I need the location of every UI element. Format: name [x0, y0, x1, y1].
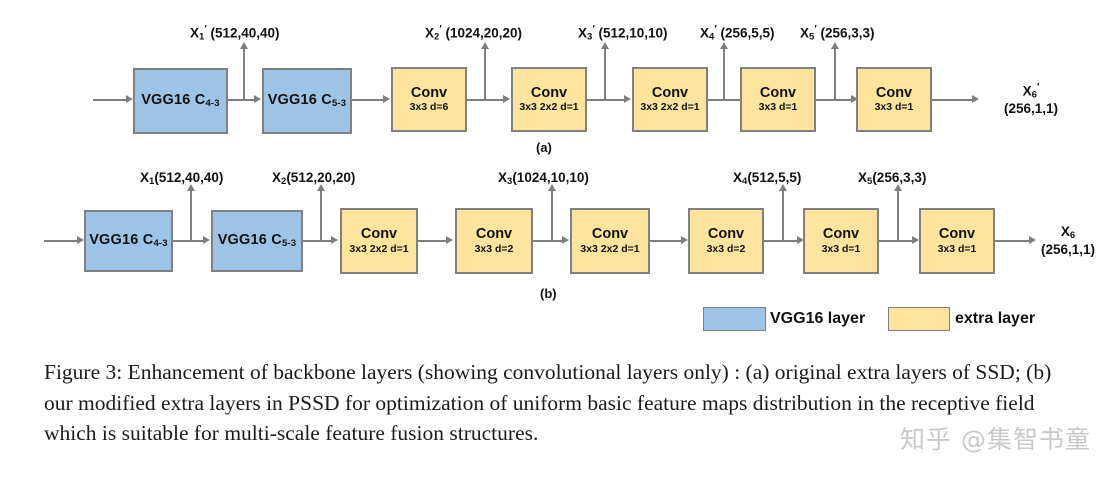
block-title: VGG16 C4-3: [141, 93, 220, 109]
block-b-conv-4[interactable]: Conv 3x3 d=2: [688, 208, 764, 274]
tap-line-a-5: [834, 48, 836, 100]
tap-line-b-1: [190, 190, 192, 241]
tap-line-a-2: [484, 48, 486, 100]
tap-line-b-5: [897, 190, 899, 241]
block-title: Conv: [876, 86, 912, 101]
block-detail: 3x3 d=1: [759, 102, 798, 113]
block-a-conv-5[interactable]: Conv 3x3 d=1: [856, 67, 932, 132]
block-title: VGG16 C4-3: [89, 233, 168, 249]
conn-b-2: [303, 240, 333, 242]
block-detail: 3x3 2x2 d=1: [519, 102, 578, 113]
conn-a-1: [228, 99, 256, 101]
block-title: VGG16 C5-3: [268, 93, 347, 109]
conn-a-4: [587, 99, 627, 101]
block-title: Conv: [476, 227, 512, 242]
sub-caption-b: (b): [540, 286, 557, 301]
figure-canvas: VGG16 C4-3 VGG16 C5-3 Conv 3x3 d=6 Conv …: [0, 0, 1108, 491]
block-detail: 3x3 d=1: [938, 244, 977, 255]
legend-label-extra: extra layer: [955, 310, 1035, 328]
block-detail: 3x3 2x2 d=1: [580, 244, 639, 255]
tap-head-a-2: [481, 42, 489, 49]
tap-label-b-2: X2(512,20,20): [272, 170, 355, 187]
conn-b-4: [533, 240, 565, 242]
block-title: Conv: [531, 86, 567, 101]
input-arrow-line-b: [44, 240, 77, 242]
block-a-vgg16-c53[interactable]: VGG16 C5-3: [262, 68, 352, 134]
output-label-b: X6 (256,1,1): [1028, 224, 1108, 259]
tap-label-a-3: X3′ (512,10,10): [578, 24, 668, 43]
tap-line-a-1: [243, 48, 245, 100]
input-arrow-head-a: [126, 95, 133, 103]
conn-b-7-head: [912, 236, 919, 244]
legend-label-vgg: VGG16 layer: [770, 310, 865, 328]
conn-a-3: [467, 99, 506, 101]
block-a-conv-3[interactable]: Conv 3x3 2x2 d=1: [632, 67, 708, 132]
tap-line-b-2: [320, 190, 322, 241]
block-title: Conv: [823, 227, 859, 242]
output-arrow-line-b: [995, 240, 1031, 242]
block-a-conv-2[interactable]: Conv 3x3 2x2 d=1: [511, 67, 587, 132]
block-a-vgg16-c43[interactable]: VGG16 C4-3: [133, 68, 228, 134]
block-detail: 3x3 d=6: [410, 102, 449, 113]
block-detail: 3x3 2x2 d=1: [640, 102, 699, 113]
tap-label-b-4: X4(512,5,5): [733, 170, 801, 187]
conn-b-1: [173, 240, 205, 242]
conn-b-2-head: [331, 236, 338, 244]
tap-label-a-1: X1′ (512,40,40): [190, 24, 280, 43]
block-title: Conv: [708, 227, 744, 242]
block-b-conv-3[interactable]: Conv 3x3 2x2 d=1: [570, 208, 650, 274]
block-title: Conv: [652, 86, 688, 101]
conn-a-5: [708, 99, 743, 101]
tap-label-b-1: X1(512,40,40): [140, 170, 223, 187]
conn-b-5-head: [681, 236, 688, 244]
output-shape-a: (256,1,1): [976, 101, 1086, 118]
input-arrow-line-a: [93, 99, 126, 101]
conn-a-2-head: [383, 95, 390, 103]
block-a-conv-4[interactable]: Conv 3x3 d=1: [740, 67, 816, 132]
tap-head-a-4: [720, 42, 728, 49]
conn-b-5: [650, 240, 684, 242]
block-b-vgg16-c53[interactable]: VGG16 C5-3: [211, 210, 303, 272]
block-b-conv-1[interactable]: Conv 3x3 2x2 d=1: [340, 208, 418, 274]
tap-line-b-3: [551, 190, 553, 241]
output-label-a: X6′ (256,1,1): [976, 82, 1086, 118]
conn-b-4-head: [562, 236, 569, 244]
watermark: 知乎 @集智书童: [900, 420, 1091, 456]
block-title: Conv: [760, 86, 796, 101]
block-b-conv-5[interactable]: Conv 3x3 d=1: [803, 208, 879, 274]
block-b-vgg16-c43[interactable]: VGG16 C4-3: [84, 210, 173, 272]
conn-a-3-head: [503, 95, 510, 103]
block-detail: 3x3 d=1: [822, 244, 861, 255]
tap-label-a-5: X5′ (256,3,3): [800, 24, 875, 43]
block-b-conv-6[interactable]: Conv 3x3 d=1: [919, 208, 995, 274]
tap-label-b-3: X3(1024,10,10): [498, 170, 589, 187]
conn-b-1-head: [203, 236, 210, 244]
extra-swatch-icon: [888, 307, 950, 331]
vgg-swatch-icon: [703, 307, 766, 331]
conn-b-3: [418, 240, 448, 242]
tap-line-a-3: [604, 48, 606, 100]
tap-line-a-4: [723, 48, 725, 100]
tap-head-a-1: [240, 42, 248, 49]
block-title: VGG16 C5-3: [218, 233, 297, 249]
tap-head-a-3: [601, 42, 609, 49]
block-title: Conv: [361, 227, 397, 242]
block-b-conv-2[interactable]: Conv 3x3 d=2: [455, 208, 533, 274]
block-detail: 3x3 2x2 d=1: [349, 244, 408, 255]
tap-head-a-5: [831, 42, 839, 49]
tap-label-a-2: X2′ (1024,20,20): [425, 24, 522, 43]
sub-caption-a: (a): [536, 140, 552, 155]
block-title: Conv: [939, 227, 975, 242]
block-detail: 3x3 d=2: [707, 244, 746, 255]
block-title: Conv: [592, 227, 628, 242]
conn-a-1-head: [254, 95, 261, 103]
output-arrow-line-a: [932, 99, 974, 101]
conn-b-3-head: [446, 236, 453, 244]
tap-label-a-4: X4′ (256,5,5): [700, 24, 775, 43]
block-a-conv-1[interactable]: Conv 3x3 d=6: [391, 67, 467, 132]
output-shape-b: (256,1,1): [1028, 242, 1108, 259]
block-detail: 3x3 d=1: [875, 102, 914, 113]
block-title: Conv: [411, 86, 447, 101]
block-detail: 3x3 d=2: [475, 244, 514, 255]
input-arrow-head-b: [77, 236, 84, 244]
conn-a-4-head: [624, 95, 631, 103]
tap-label-b-5: X5(256,3,3): [858, 170, 926, 187]
conn-a-2: [352, 99, 384, 101]
tap-line-b-4: [782, 190, 784, 241]
